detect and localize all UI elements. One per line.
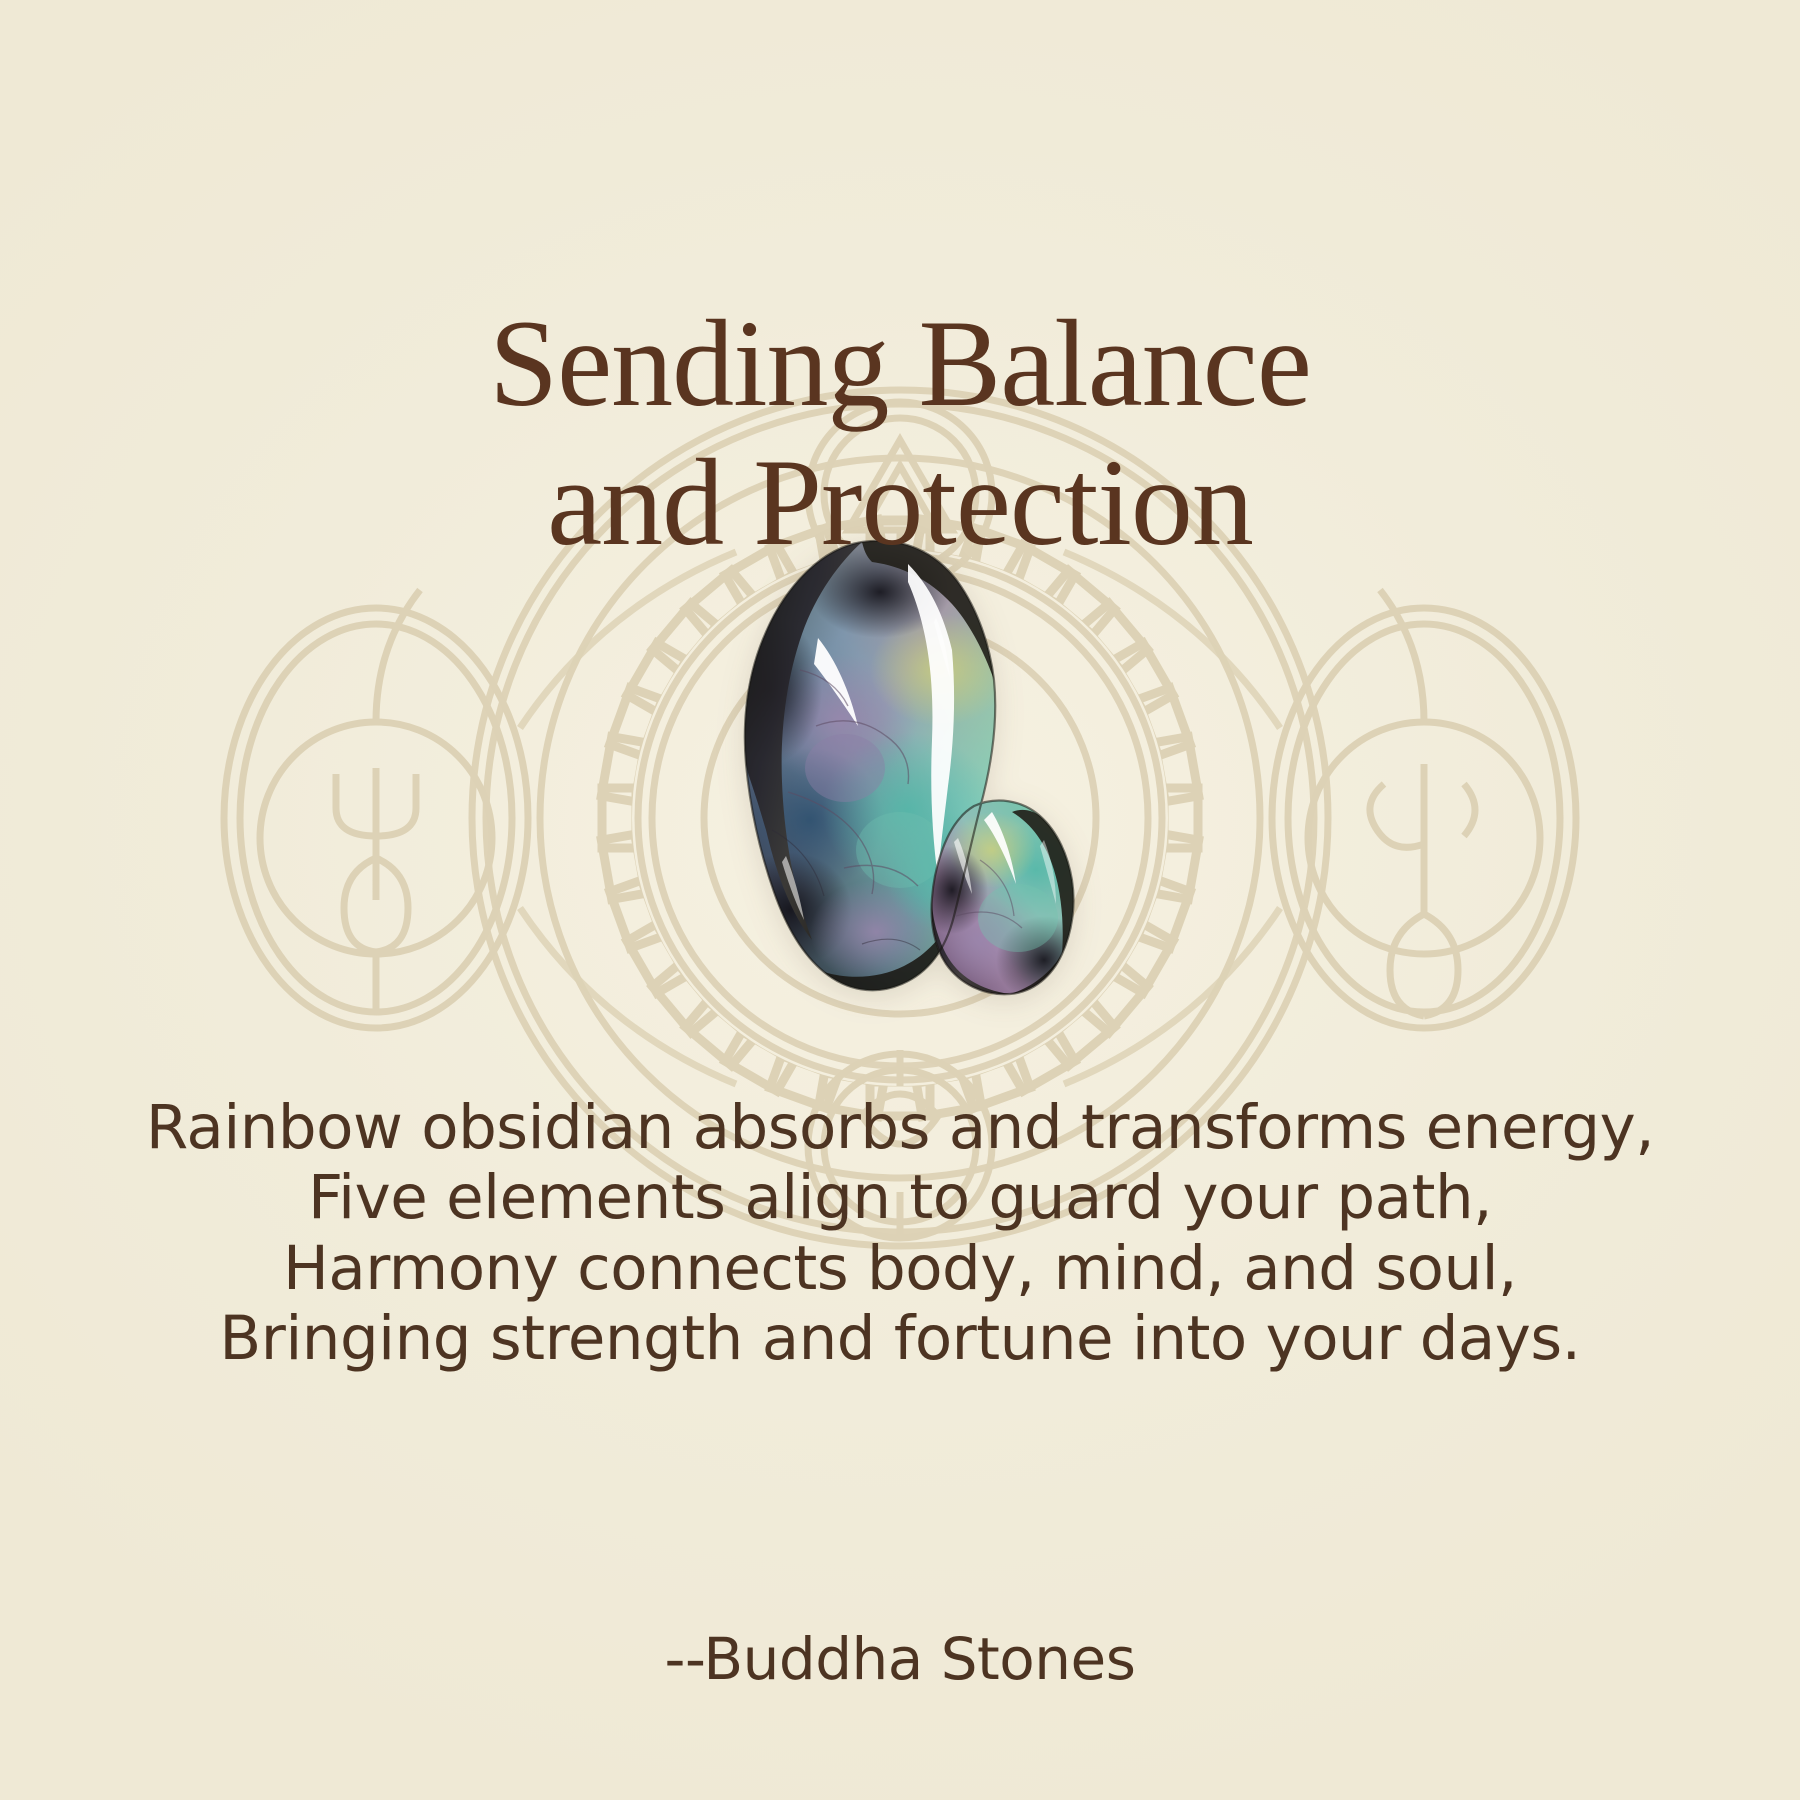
rainbow-obsidian-crystal-image [640, 520, 1160, 1040]
page-title: Sending Balance and Protection [0, 295, 1800, 573]
left-figure-medallion [224, 590, 528, 1028]
title-line-1: Sending Balance [0, 295, 1800, 434]
title-line-2: and Protection [0, 434, 1800, 573]
poster-canvas: Sending Balance and Protection [0, 0, 1800, 1800]
right-figure-medallion [1272, 590, 1576, 1028]
poem-line-1: Rainbow obsidian absorbs and transforms … [0, 1093, 1800, 1163]
poem-text: Rainbow obsidian absorbs and transforms … [0, 1093, 1800, 1375]
poem-line-2: Five elements align to guard your path, [0, 1163, 1800, 1233]
signature-attribution: --Buddha Stones [0, 1625, 1800, 1693]
poem-line-3: Harmony connects body, mind, and soul, [0, 1234, 1800, 1304]
poem-line-4: Bringing strength and fortune into your … [0, 1304, 1800, 1374]
